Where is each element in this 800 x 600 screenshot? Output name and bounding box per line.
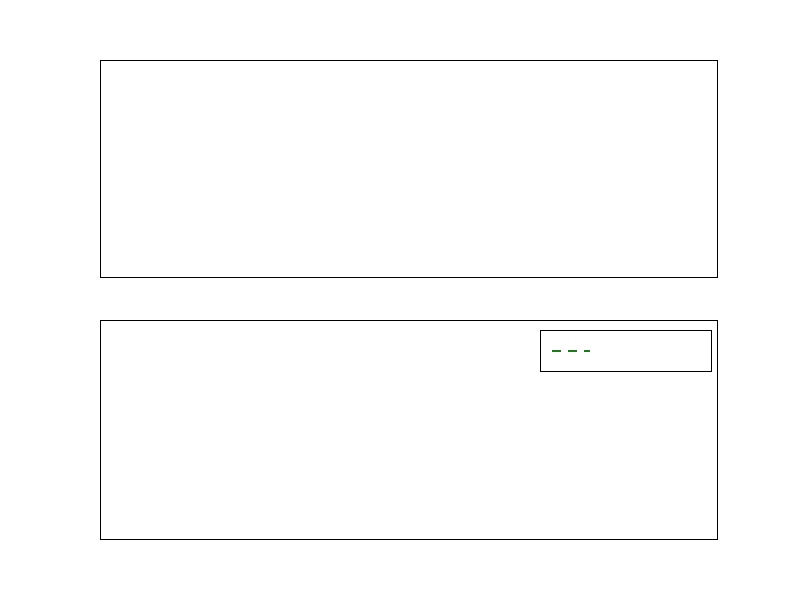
matplotlib-figure — [0, 0, 800, 600]
mag-limit-legend-line-icon — [551, 344, 591, 358]
top-histogram-axes — [100, 60, 718, 278]
top-histogram-plot-area — [101, 61, 717, 277]
legend — [540, 330, 712, 372]
